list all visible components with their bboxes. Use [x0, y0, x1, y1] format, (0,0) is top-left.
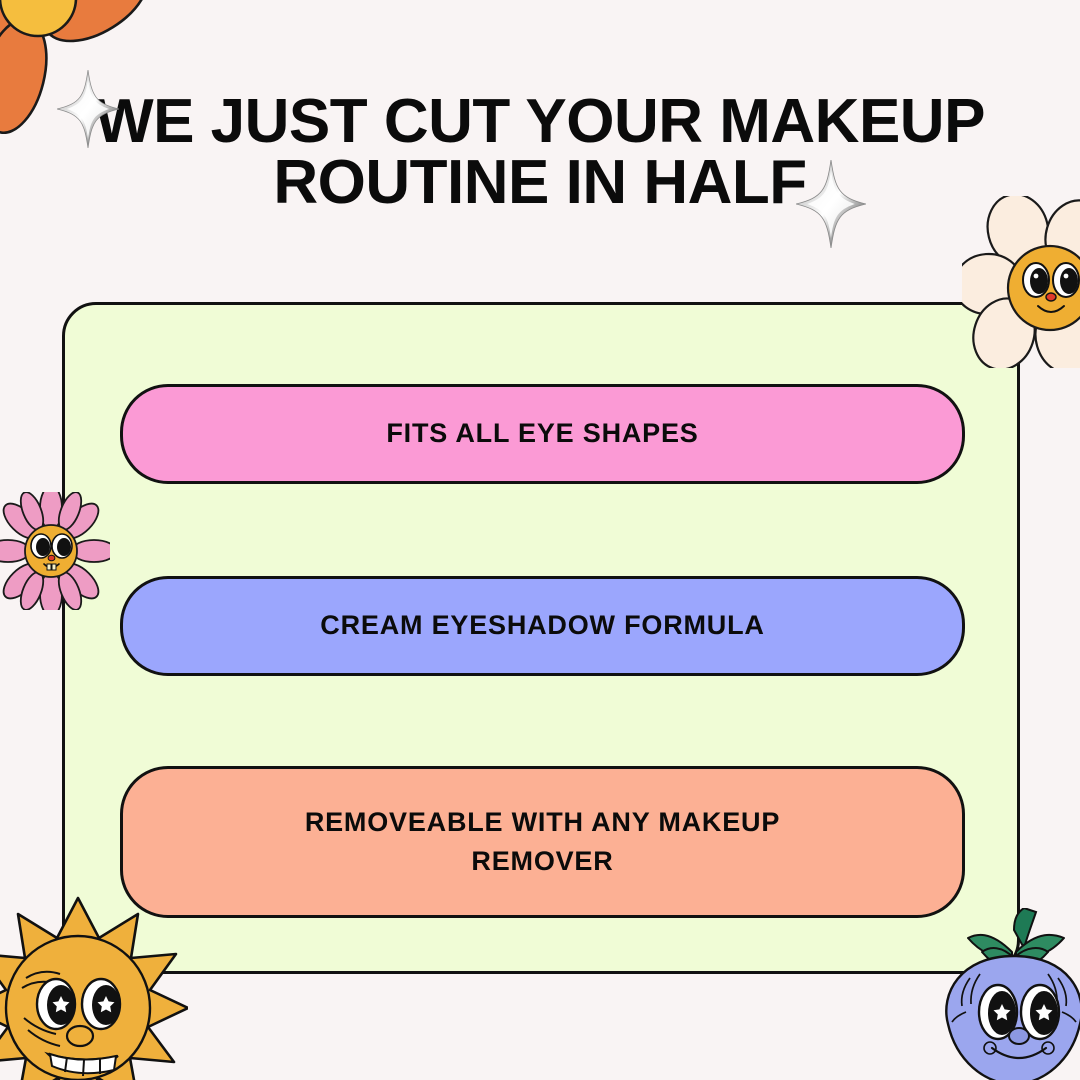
- feature-pill-removeable-with-any-makeup-remover[interactable]: REMOVEABLE WITH ANY MAKEUP REMOVER: [120, 766, 965, 918]
- page-title: WE JUST CUT YOUR MAKEUP ROUTINE IN HALF: [0, 92, 1080, 214]
- feature-pill-label-line-2: REMOVER: [471, 846, 613, 876]
- headline-line-1: WE JUST CUT YOUR MAKEUP: [0, 92, 1080, 153]
- feature-pill-label-line-1: REMOVEABLE WITH ANY MAKEUP: [305, 807, 780, 837]
- poster-canvas: WE JUST CUT YOUR MAKEUP ROUTINE IN HALF: [0, 0, 1080, 1080]
- feature-pill-cream-eyeshadow-formula[interactable]: CREAM EYESHADOW FORMULA: [120, 576, 965, 676]
- feature-pill-label: CREAM EYESHADOW FORMULA: [320, 606, 764, 645]
- headline-line-2: ROUTINE IN HALF: [0, 153, 1080, 214]
- feature-pill-label: FITS ALL EYE SHAPES: [386, 414, 698, 453]
- feature-pill-fits-all-eye-shapes[interactable]: FITS ALL EYE SHAPES: [120, 384, 965, 484]
- feature-pill-label: REMOVEABLE WITH ANY MAKEUP REMOVER: [305, 803, 780, 881]
